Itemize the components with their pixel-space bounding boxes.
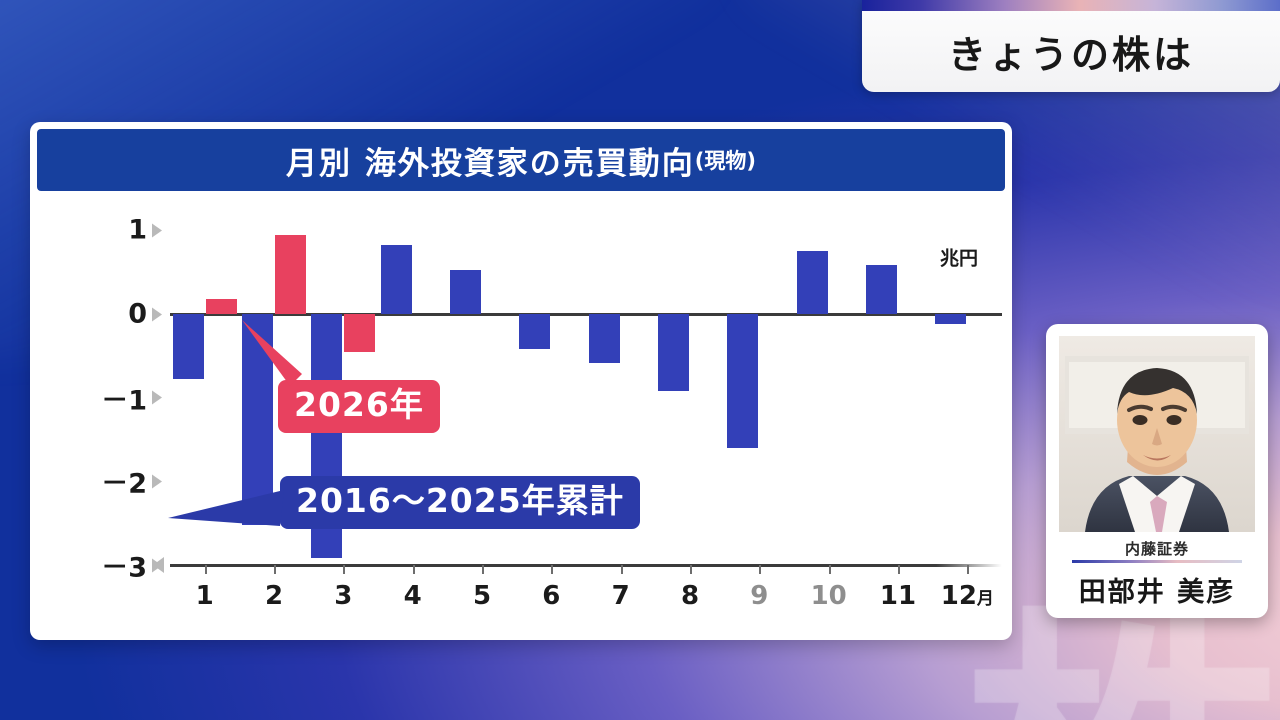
program-title-text: きょうの株は (862, 11, 1280, 92)
guest-avatar (1059, 336, 1255, 532)
bar-cumulative-month-6 (519, 314, 550, 349)
y-axis-tick-label: －1 (101, 378, 147, 417)
x-axis-unit-label: 月 (977, 589, 994, 609)
bar-cumulative-month-12 (935, 314, 966, 324)
x-axis-tick-12 (967, 565, 969, 574)
y-axis-tick-3: －2 (101, 462, 162, 501)
x-axis-label-2: 2 (265, 581, 283, 611)
chart-title-main: 月別 海外投資家の売買動向 (286, 138, 695, 183)
y-axis-tick-0: 1 (128, 215, 162, 246)
callout-pointer-blue-icon (164, 480, 364, 570)
callout-cumulative: 2016〜2025年累計 (280, 476, 640, 529)
bar-cumulative-month-7 (589, 314, 620, 363)
x-axis-label-3: 3 (334, 581, 352, 611)
y-axis-tick-label: 1 (128, 215, 147, 246)
bar-cumulative-month-10 (797, 251, 828, 314)
y-axis-unit-label: 兆円 (940, 244, 978, 271)
x-axis-label-4: 4 (404, 581, 422, 611)
guest-name: 田部井 美彦 (1046, 570, 1268, 609)
x-axis-label-9: 9 (750, 581, 768, 611)
bar-cumulative-month-11 (866, 265, 897, 314)
x-axis-label-7: 7 (612, 581, 630, 611)
bar-cumulative-month-8 (658, 314, 689, 391)
x-axis-label-8: 8 (681, 581, 699, 611)
x-axis-tick-4 (413, 565, 415, 574)
bar-current-month-2 (275, 235, 306, 314)
banner-accent-bar (862, 0, 1280, 11)
bar-cumulative-month-4 (381, 245, 412, 314)
y-axis-tick-marker-icon (152, 474, 162, 488)
y-axis-tick-2: －1 (101, 378, 162, 417)
y-axis-tick-marker-icon (152, 223, 162, 237)
program-title-banner: きょうの株は (862, 0, 1280, 92)
y-axis-tick-label: 0 (128, 299, 147, 330)
guest-photo-illustration (1059, 336, 1255, 532)
x-axis-tick-8 (690, 565, 692, 574)
x-axis-tick-9 (759, 565, 761, 574)
x-axis-tick-5 (482, 565, 484, 574)
guest-card: 内藤証券 田部井 美彦 (1046, 324, 1268, 618)
y-axis-tick-label: －3 (101, 546, 147, 585)
bar-cumulative-month-1 (173, 314, 204, 379)
chart-title-sub: (現物) (695, 145, 756, 175)
guest-organization: 内藤証券 (1046, 538, 1268, 559)
x-axis-label-12: 12月 (941, 581, 994, 611)
kanji-watermark: 株 (962, 639, 1280, 720)
x-axis-label-6: 6 (542, 581, 560, 611)
x-axis-start-marker-icon (153, 557, 164, 573)
broadcast-stage: 株 きょうの株は 月別 海外投資家の売買動向(現物) 10－1－2－3兆円123… (0, 0, 1280, 720)
chart-plot-area: 10－1－2－3兆円123456789101112月2026年2016〜2025… (30, 192, 1012, 640)
x-axis-label-5: 5 (473, 581, 491, 611)
chart-card: 月別 海外投資家の売買動向(現物) 10－1－2－3兆円123456789101… (30, 122, 1012, 640)
y-axis-tick-marker-icon (152, 307, 162, 321)
y-axis-tick-1: 0 (128, 299, 162, 330)
bar-cumulative-month-5 (450, 270, 481, 314)
x-axis-tick-11 (898, 565, 900, 574)
x-axis-label-10: 10 (811, 581, 847, 611)
x-axis-tick-10 (829, 565, 831, 574)
x-axis-label-11: 11 (880, 581, 916, 611)
y-axis-tick-label: －2 (101, 462, 147, 501)
bar-cumulative-month-9 (727, 314, 758, 448)
y-axis-tick-marker-icon (152, 391, 162, 405)
callout-current-year: 2026年 (278, 380, 440, 433)
x-axis-tick-6 (551, 565, 553, 574)
callout-pointer-red-icon (206, 308, 446, 428)
x-axis-tick-7 (621, 565, 623, 574)
chart-title-bar: 月別 海外投資家の売買動向(現物) (37, 129, 1005, 191)
x-axis-label-1: 1 (196, 581, 214, 611)
guest-divider (1072, 560, 1242, 563)
